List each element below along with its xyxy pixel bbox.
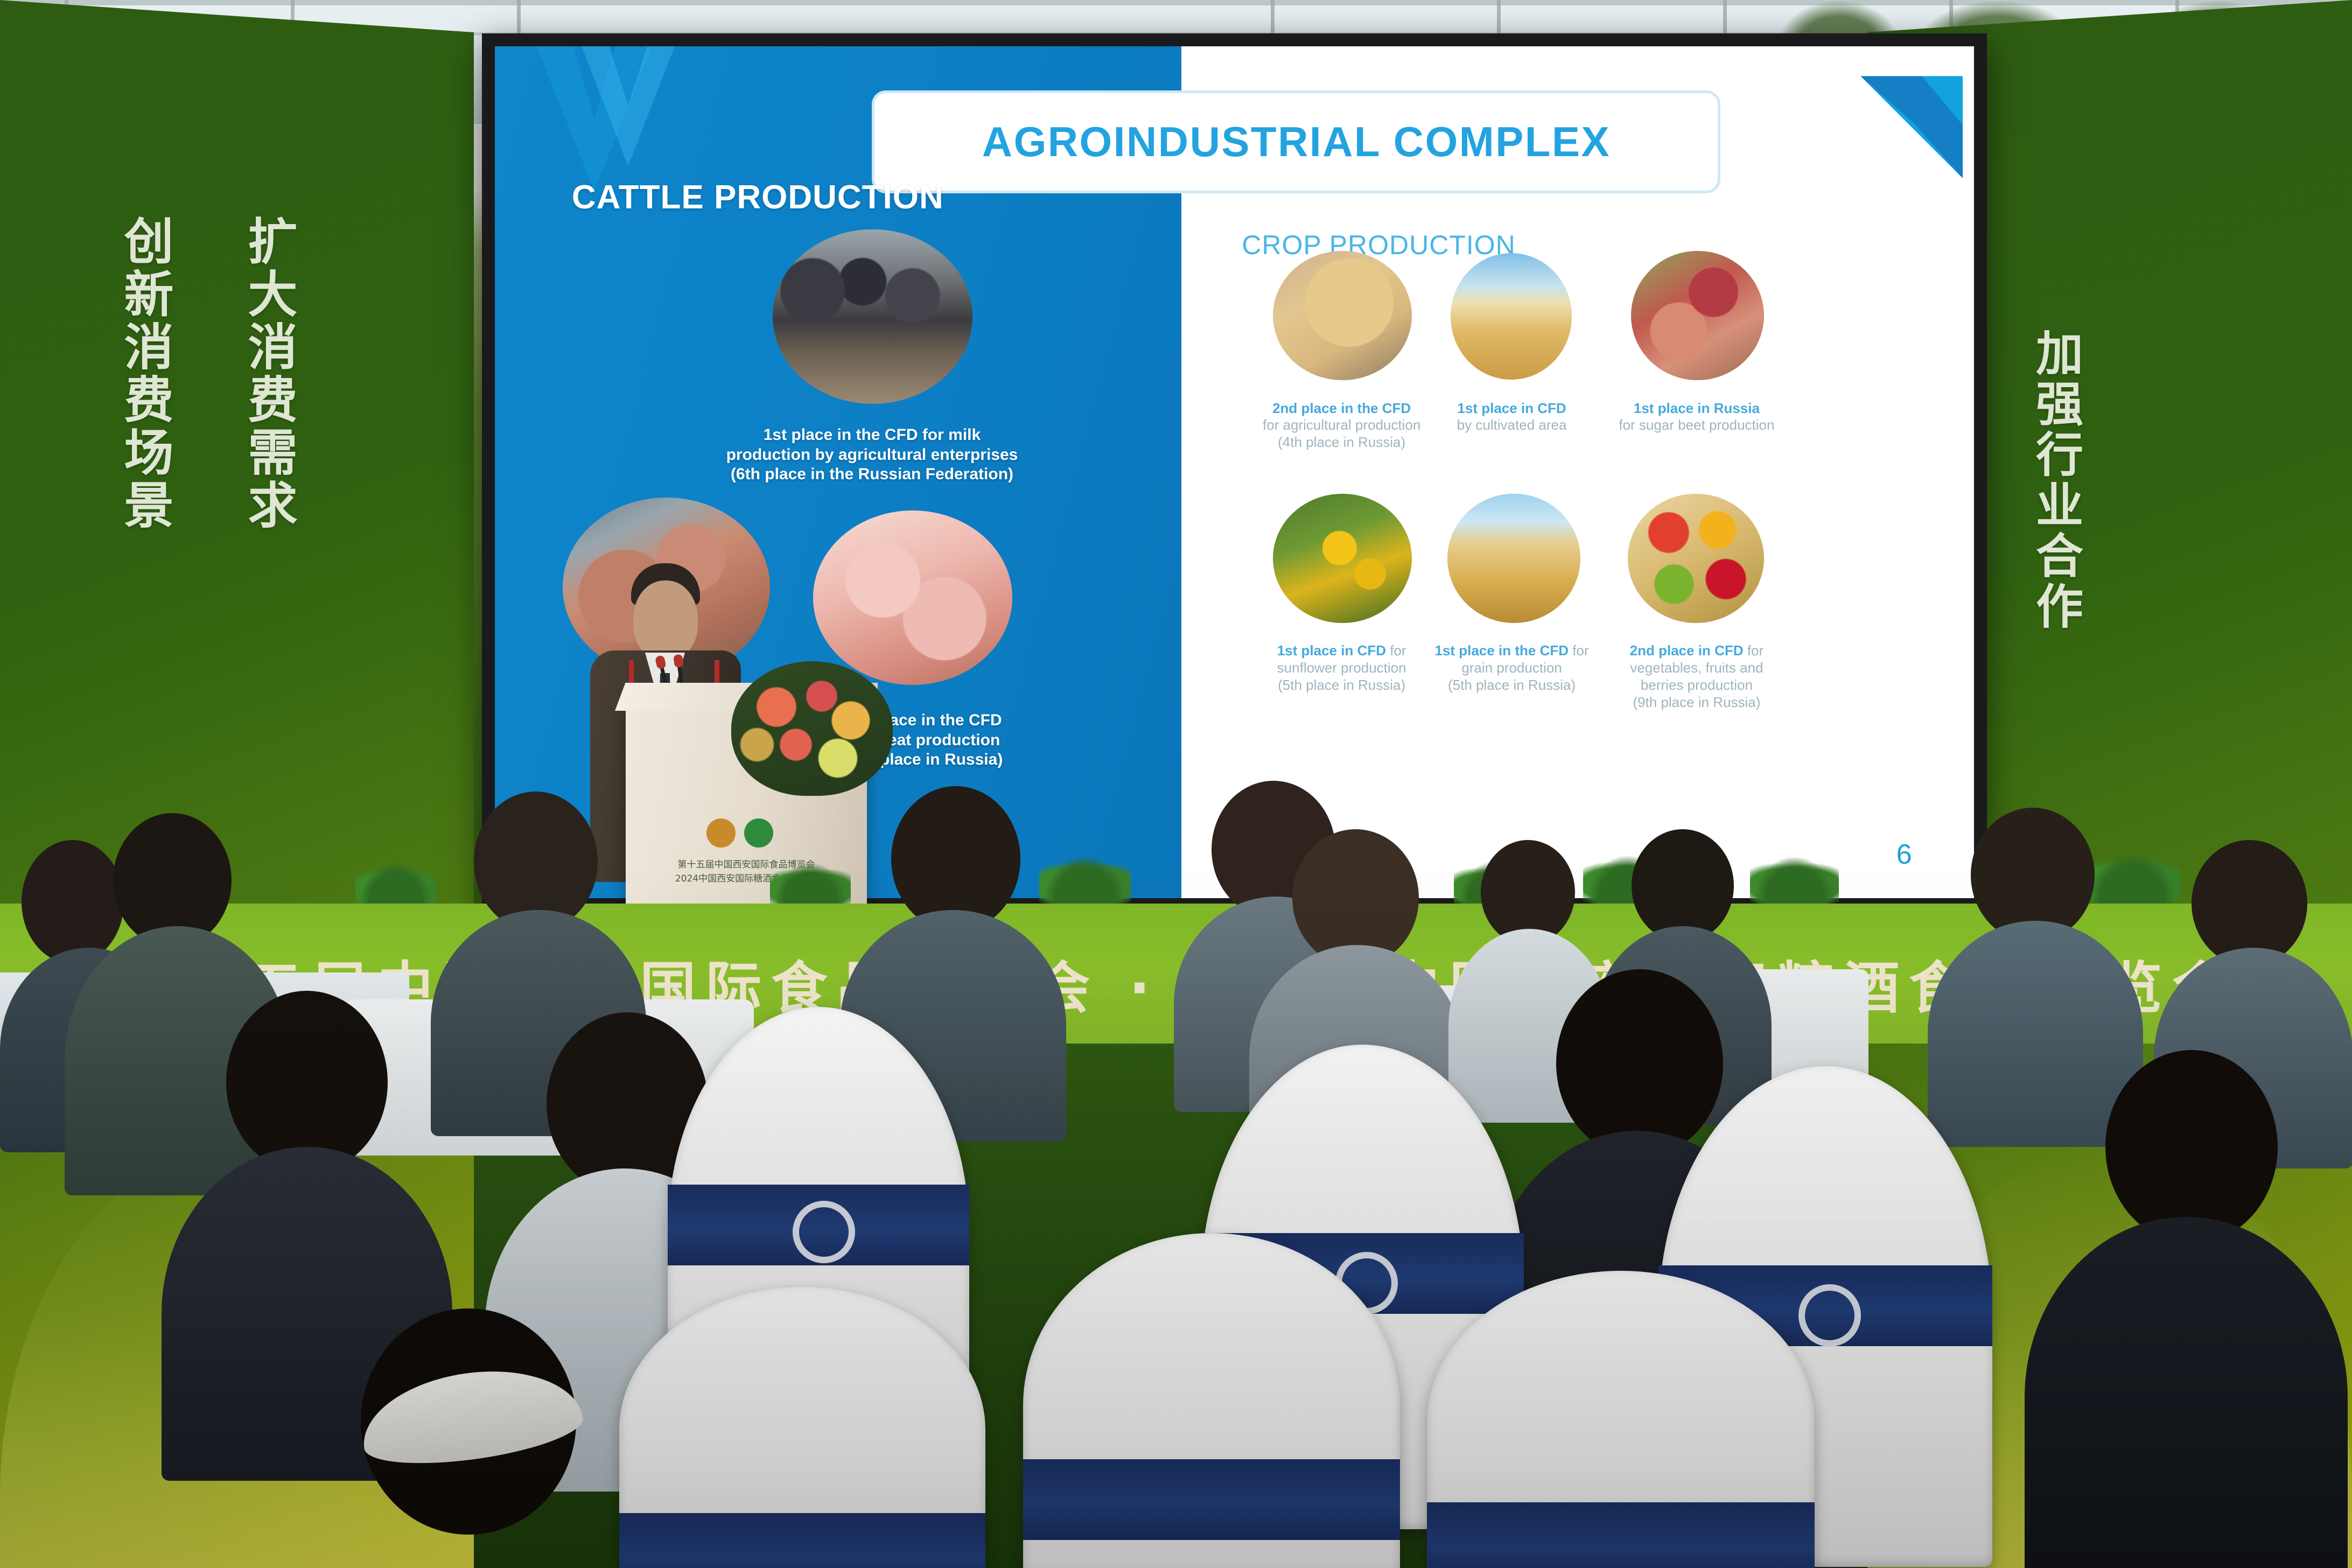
audience-person [2025,1050,2348,1568]
person-head [226,991,388,1174]
wheat-ears-photo [1447,494,1580,623]
dairy-cows-photo [773,229,972,404]
cattle-production-heading: CATTLE PRODUCTION [572,178,944,216]
podium-logos [706,818,773,848]
flower-arrangement [731,661,893,796]
crop-beet-bold: 1st place in Russia [1634,400,1760,416]
cattle-milk-line3: (6th place in the Russian Federation) [665,465,1079,485]
chair-sash [1023,1459,1400,1540]
person-body [2025,1217,2348,1568]
crop-production-heading: CROP PRODUCTION [1242,229,1516,261]
crop-caption-beet: 1st place in Russia for sugar beet produ… [1574,400,1818,434]
sunflower-photo [1273,494,1412,623]
chair-sash [1427,1502,1815,1568]
conference-photo-scene: 创新消费场景 扩大消费需求 推动品牌建设 加强行业合作 [0,0,2352,1568]
speaker-head [633,580,698,660]
crop-fruit-line4: (9th place in Russia) [1574,694,1818,711]
person-head [2105,1050,2278,1244]
wheat-field-photo [1451,253,1572,379]
podium-logo-green-icon [744,818,773,848]
podium-logo-orange-icon [706,818,736,848]
banquet-chair [619,1287,985,1568]
sugar-beet-photo [1631,251,1764,380]
cattle-caption-milk: 1st place in the CFD for milk production… [665,425,1079,485]
crop-agri-bold: 2nd place in the CFD [1272,400,1411,416]
slide-title-pill: AGROINDUSTRIAL COMPLEX [872,90,1720,193]
crop-grain-bold: 1st place in the CFD [1435,642,1569,659]
audience-person-foreground [302,1308,646,1568]
crop-beet-line2: for sugar beet production [1574,417,1818,434]
crop-fruit-bold: 2nd place in CFD [1630,642,1744,659]
banquet-chair [1023,1233,1400,1568]
crop-fruit-rest: for [1744,642,1764,659]
grain-bowl-photo [1273,251,1412,380]
crop-cult-bold: 1st place in CFD [1457,400,1566,416]
crop-agri-line3: (4th place in Russia) [1227,434,1457,451]
cattle-milk-rest: for milk [918,426,981,444]
crop-sun-bold: 1st place in CFD [1277,642,1386,659]
slide-title: AGROINDUSTRIAL COMPLEX [982,117,1611,166]
right-banner-text-outer: 加强行业合作 [2029,328,2082,632]
fruits-vegetables-photo [1628,494,1764,623]
pork-meat-photo [813,510,1013,685]
slide-page-number: 6 [1896,838,1912,871]
cattle-milk-bold: 1st place in the CFD [764,426,918,444]
chair-sash [619,1513,985,1568]
left-banner-text-outer: 创新消费场景 [117,215,172,532]
banquet-chair [1427,1271,1815,1568]
cattle-milk-line2: production by agricultural enterprises [665,445,1079,465]
crop-fruit-line3: berries production [1574,677,1818,694]
chair-knot [793,1201,855,1263]
left-banner-text-inner: 扩大消费需求 [241,215,296,532]
person-head [1632,829,1734,942]
crop-caption-fruits: 2nd place in CFD for vegetables, fruits … [1574,642,1818,711]
crop-fruit-line2: vegetables, fruits and [1574,660,1818,677]
